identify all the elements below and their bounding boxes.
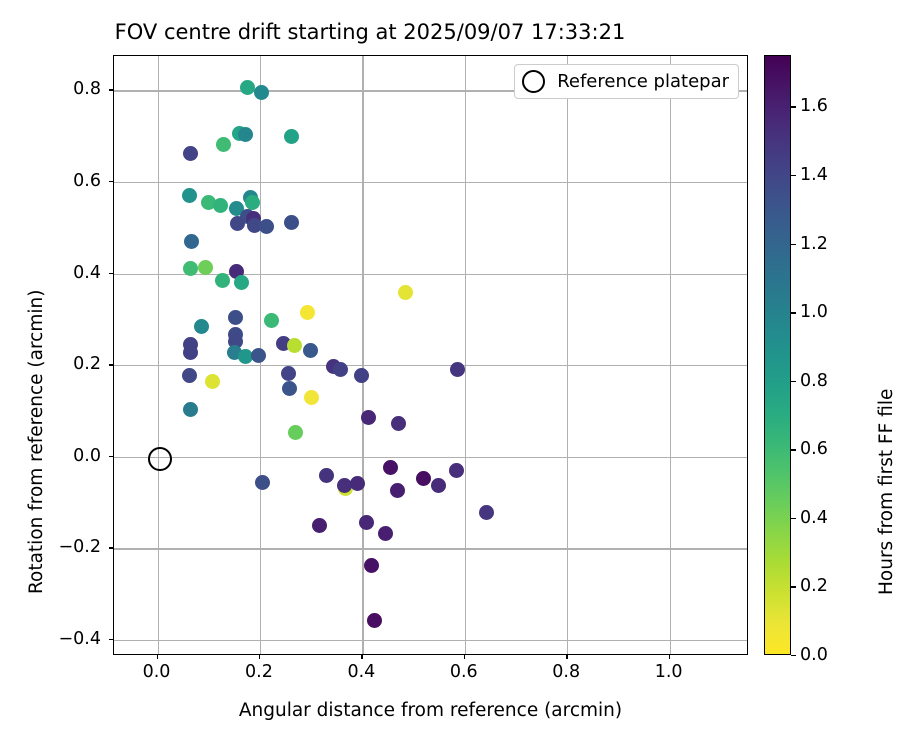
gridline-horizontal — [114, 365, 747, 366]
scatter-point — [234, 275, 249, 290]
colorbar-tick-label: 1.0 — [800, 302, 828, 322]
scatter-point — [287, 338, 302, 353]
colorbar-tick-label: 0.0 — [800, 645, 828, 665]
scatter-point — [215, 273, 230, 288]
x-tick — [566, 655, 567, 659]
colorbar-tick — [791, 381, 796, 382]
legend-open-circle-icon — [522, 70, 545, 93]
reference-platepar-marker — [148, 447, 172, 471]
colorbar-tick-label: 0.4 — [800, 508, 828, 528]
colorbar-tick — [791, 518, 796, 519]
y-tick — [109, 547, 113, 548]
y-tick-label: 0.4 — [30, 263, 101, 283]
scatter-point — [367, 613, 382, 628]
x-tick-label: 0.6 — [450, 662, 478, 682]
colorbar-tick — [791, 655, 796, 656]
y-tick-label: 0.6 — [30, 171, 101, 191]
gridline-vertical — [158, 56, 159, 654]
x-tick-label: 0.8 — [552, 662, 580, 682]
scatter-point — [205, 374, 220, 389]
scatter-point — [183, 261, 198, 276]
y-tick — [109, 181, 113, 182]
scatter-point — [284, 215, 299, 230]
gridline-horizontal — [114, 182, 747, 183]
scatter-point — [240, 80, 255, 95]
gridline-horizontal — [114, 640, 747, 641]
scatter-point — [391, 416, 406, 431]
gridline-vertical — [567, 56, 568, 654]
colorbar-tick — [791, 244, 796, 245]
y-tick — [109, 639, 113, 640]
y-tick — [109, 273, 113, 274]
scatter-point — [284, 129, 299, 144]
scatter-point — [213, 198, 228, 213]
legend-label: Reference platepar — [557, 71, 729, 92]
scatter-point — [198, 260, 213, 275]
scatter-point — [333, 362, 348, 377]
x-tick-label: 0.2 — [245, 662, 273, 682]
scatter-point — [183, 146, 198, 161]
colorbar-tick — [791, 175, 796, 176]
scatter-point — [238, 127, 253, 142]
y-axis-label: Rotation from reference (arcmin) — [26, 290, 47, 594]
scatter-point — [300, 305, 315, 320]
y-tick-label: 0.8 — [30, 79, 101, 99]
scatter-point — [304, 390, 319, 405]
page-title: FOV centre drift starting at 2025/09/07 … — [0, 20, 740, 44]
scatter-point — [264, 313, 279, 328]
colorbar-tick-label: 1.4 — [800, 165, 828, 185]
scatter-point — [288, 425, 303, 440]
gridline-vertical — [465, 56, 466, 654]
colorbar-tick-label: 1.6 — [800, 96, 828, 116]
scatter-point — [364, 558, 379, 573]
scatter-point — [378, 526, 393, 541]
colorbar-tick-label: 0.6 — [800, 439, 828, 459]
scatter-point — [398, 285, 413, 300]
scatter-point — [450, 362, 465, 377]
y-tick — [109, 456, 113, 457]
gridline-horizontal — [114, 548, 747, 549]
x-tick-label: 0.4 — [347, 662, 375, 682]
scatter-point — [354, 368, 369, 383]
x-tick-label: 0.0 — [143, 662, 171, 682]
scatter-point — [259, 219, 274, 234]
scatter-point — [230, 216, 245, 231]
scatter-point — [312, 518, 327, 533]
scatter-point — [390, 483, 405, 498]
scatter-point — [183, 402, 198, 417]
scatter-point — [383, 460, 398, 475]
scatter-point — [184, 234, 199, 249]
colorbar-tick — [791, 449, 796, 450]
scatter-point — [251, 348, 266, 363]
colorbar-tick-label: 0.2 — [800, 576, 828, 596]
scatter-point — [319, 468, 334, 483]
x-axis-label: Angular distance from reference (arcmin) — [113, 700, 748, 721]
scatter-point — [416, 471, 431, 486]
colorbar-tick-label: 1.2 — [800, 234, 828, 254]
y-tick-label: −0.4 — [30, 629, 101, 649]
colorbar-tick — [791, 106, 796, 107]
scatter-point — [228, 310, 243, 325]
y-tick — [109, 89, 113, 90]
colorbar-label: Hours from first FF file — [876, 389, 897, 595]
scatter-point — [282, 381, 297, 396]
scatter-point — [431, 478, 446, 493]
colorbar-gradient — [765, 56, 790, 654]
colorbar-tick-label: 0.8 — [800, 371, 828, 391]
scatter-point — [359, 515, 374, 530]
x-tick-label: 1.0 — [655, 662, 683, 682]
x-tick — [361, 655, 362, 659]
x-tick — [259, 655, 260, 659]
scatter-point — [183, 345, 198, 360]
scatter-point — [255, 475, 270, 490]
colorbar — [764, 55, 791, 655]
gridline-vertical — [670, 56, 671, 654]
colorbar-tick — [791, 312, 796, 313]
scatter-point — [281, 366, 296, 381]
scatter-point — [182, 188, 197, 203]
scatter-point — [182, 368, 197, 383]
chart-figure: FOV centre drift starting at 2025/09/07 … — [0, 0, 900, 750]
y-tick — [109, 364, 113, 365]
legend[interactable]: Reference platepar — [514, 64, 739, 99]
scatter-point — [254, 85, 269, 100]
scatter-point — [216, 137, 231, 152]
scatter-point — [449, 463, 464, 478]
scatter-point — [245, 195, 260, 210]
scatter-point — [303, 343, 318, 358]
scatter-point — [479, 505, 494, 520]
x-tick — [464, 655, 465, 659]
scatter-point — [194, 319, 209, 334]
plot-axes: Reference platepar — [113, 55, 748, 655]
x-tick — [157, 655, 158, 659]
x-tick — [669, 655, 670, 659]
gridline-horizontal — [114, 457, 747, 458]
colorbar-tick — [791, 586, 796, 587]
scatter-point — [361, 410, 376, 425]
